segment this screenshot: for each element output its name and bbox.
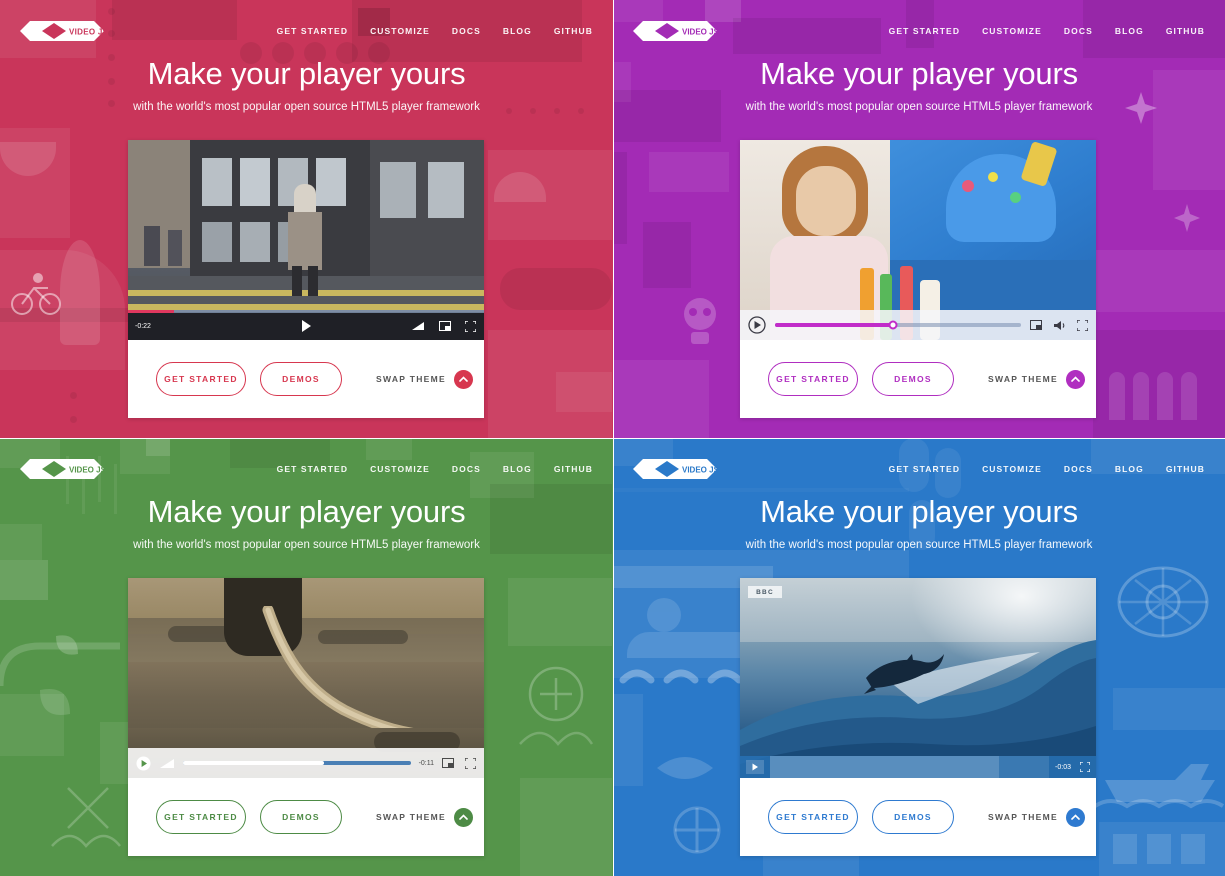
play-button-blue[interactable]: [746, 760, 764, 774]
card-actions-purple: GET STARTED DEMOS SWAP THEME: [740, 340, 1096, 418]
swap-theme-label: SWAP THEME: [988, 374, 1058, 384]
nav-links-purple: GET STARTED CUSTOMIZE DOCS BLOG GITHUB: [889, 26, 1205, 36]
nav-link-customize[interactable]: CUSTOMIZE: [982, 464, 1042, 474]
get-started-button[interactable]: GET STARTED: [768, 362, 858, 396]
time-remaining-red: -0:22: [135, 323, 151, 330]
page-subtitle: with the world's most popular open sourc…: [613, 101, 1225, 113]
demos-button[interactable]: DEMOS: [260, 800, 342, 834]
nav-link-docs[interactable]: DOCS: [452, 464, 481, 474]
nav-link-customize[interactable]: CUSTOMIZE: [370, 26, 430, 36]
video-player-red[interactable]: -0:22: [128, 140, 484, 340]
video-player-blue[interactable]: BBC -0:03: [740, 578, 1096, 778]
play-button-green[interactable]: [136, 756, 151, 771]
nav-link-docs[interactable]: DOCS: [1064, 26, 1093, 36]
picture-in-picture-button-purple[interactable]: [1030, 320, 1042, 330]
control-bar-green[interactable]: -0:11: [128, 748, 484, 778]
fullscreen-button-red[interactable]: [465, 321, 476, 332]
swap-theme-label: SWAP THEME: [376, 374, 446, 384]
player-card-red: -0:22: [128, 140, 484, 418]
nav-link-github[interactable]: GITHUB: [554, 26, 593, 36]
chevron-up-icon[interactable]: [454, 808, 473, 827]
nav-links-red: GET STARTED CUSTOMIZE DOCS BLOG GITHUB: [277, 26, 593, 36]
panel-divider-horizontal: [0, 438, 1225, 439]
theme-panel-red: VIDEO JS GET STARTED CUSTOMIZE DOCS BLOG…: [0, 0, 613, 438]
videojs-logo-green[interactable]: VIDEO JS: [20, 456, 106, 482]
theme-panel-blue: VIDEO JS GET STARTED CUSTOMIZE DOCS BLOG…: [613, 438, 1225, 876]
volume-button-red[interactable]: [411, 321, 425, 331]
picture-in-picture-button-red[interactable]: [439, 321, 451, 331]
page-subtitle: with the world's most popular open sourc…: [0, 539, 613, 551]
logo-text: VIDEO JS: [69, 466, 106, 475]
hero-blue: Make your player yours with the world's …: [613, 493, 1225, 551]
navbar-green: VIDEO JS GET STARTED CUSTOMIZE DOCS BLOG…: [0, 438, 613, 500]
theme-panel-green: VIDEO JS GET STARTED CUSTOMIZE DOCS BLOG…: [0, 438, 613, 876]
nav-link-blog[interactable]: BLOG: [1115, 464, 1144, 474]
control-bar-red[interactable]: -0:22: [128, 312, 484, 340]
card-actions-green: GET STARTED DEMOS SWAP THEME: [128, 778, 484, 856]
page-subtitle: with the world's most popular open sourc…: [0, 101, 613, 113]
video-player-purple[interactable]: [740, 140, 1096, 340]
fullscreen-button-green[interactable]: [465, 758, 476, 769]
logo-text: VIDEO JS: [69, 28, 106, 37]
demos-button[interactable]: DEMOS: [872, 800, 954, 834]
videojs-logo-red[interactable]: VIDEO JS: [20, 18, 106, 44]
fullscreen-button-purple[interactable]: [1077, 320, 1088, 331]
demos-button[interactable]: DEMOS: [260, 362, 342, 396]
video-player-green[interactable]: -0:11: [128, 578, 484, 778]
card-actions-red: GET STARTED DEMOS SWAP THEME: [128, 340, 484, 418]
nav-link-github[interactable]: GITHUB: [1166, 26, 1205, 36]
hero-red: Make your player yours with the world's …: [0, 55, 613, 113]
play-button-purple[interactable]: [748, 316, 766, 334]
chevron-up-icon[interactable]: [1066, 370, 1085, 389]
volume-button-purple[interactable]: [1053, 320, 1066, 331]
progress-bar-green[interactable]: [183, 761, 411, 765]
nav-link-get-started[interactable]: GET STARTED: [889, 464, 960, 474]
nav-link-get-started[interactable]: GET STARTED: [277, 26, 348, 36]
nav-link-github[interactable]: GITHUB: [1166, 464, 1205, 474]
hero-purple: Make your player yours with the world's …: [613, 55, 1225, 113]
progress-handle-purple[interactable]: [889, 321, 898, 330]
chevron-up-icon[interactable]: [454, 370, 473, 389]
nav-link-get-started[interactable]: GET STARTED: [277, 464, 348, 474]
videojs-logo-blue[interactable]: VIDEO JS: [633, 456, 719, 482]
swap-theme-control-purple[interactable]: SWAP THEME: [988, 370, 1085, 389]
nav-links-blue: GET STARTED CUSTOMIZE DOCS BLOG GITHUB: [889, 464, 1205, 474]
logo-text: VIDEO JS: [682, 466, 719, 475]
chevron-up-icon[interactable]: [1066, 808, 1085, 827]
swap-theme-label: SWAP THEME: [988, 812, 1058, 822]
bbc-watermark: BBC: [748, 586, 782, 598]
get-started-button[interactable]: GET STARTED: [768, 800, 858, 834]
logo-text: VIDEO JS: [682, 28, 719, 37]
nav-link-blog[interactable]: BLOG: [503, 26, 532, 36]
progress-bar-red[interactable]: [128, 310, 484, 313]
nav-links-green: GET STARTED CUSTOMIZE DOCS BLOG GITHUB: [277, 464, 593, 474]
nav-link-get-started[interactable]: GET STARTED: [889, 26, 960, 36]
nav-link-blog[interactable]: BLOG: [1115, 26, 1144, 36]
swap-theme-control-green[interactable]: SWAP THEME: [376, 808, 473, 827]
swap-theme-control-blue[interactable]: SWAP THEME: [988, 808, 1085, 827]
video-scene-ocean: BBC: [740, 578, 1096, 778]
theme-panel-purple: VIDEO JS GET STARTED CUSTOMIZE DOCS BLOG…: [613, 0, 1225, 438]
volume-button-green[interactable]: [159, 758, 175, 769]
fullscreen-button-blue[interactable]: [1080, 762, 1090, 772]
navbar-purple: VIDEO JS GET STARTED CUSTOMIZE DOCS BLOG…: [613, 0, 1225, 62]
page-subtitle: with the world's most popular open sourc…: [613, 539, 1225, 551]
videojs-logo-purple[interactable]: VIDEO JS: [633, 18, 719, 44]
navbar-red: VIDEO JS GET STARTED CUSTOMIZE DOCS BLOG…: [0, 0, 613, 62]
swap-theme-label: SWAP THEME: [376, 812, 446, 822]
progress-bar-blue[interactable]: [770, 756, 1049, 778]
get-started-button[interactable]: GET STARTED: [156, 362, 246, 396]
demos-button[interactable]: DEMOS: [872, 362, 954, 396]
nav-link-docs[interactable]: DOCS: [452, 26, 481, 36]
navbar-blue: VIDEO JS GET STARTED CUSTOMIZE DOCS BLOG…: [613, 438, 1225, 500]
nav-link-github[interactable]: GITHUB: [554, 464, 593, 474]
get-started-button[interactable]: GET STARTED: [156, 800, 246, 834]
player-card-green: -0:11 GET STARTED DEMOS SWAP THEME: [128, 578, 484, 856]
nav-link-customize[interactable]: CUSTOMIZE: [370, 464, 430, 474]
picture-in-picture-button-green[interactable]: [442, 758, 454, 768]
time-remaining-green: -0:11: [419, 760, 434, 767]
nav-link-blog[interactable]: BLOG: [503, 464, 532, 474]
hero-green: Make your player yours with the world's …: [0, 493, 613, 551]
control-bar-blue[interactable]: -0:03: [740, 756, 1096, 778]
progress-bar-purple[interactable]: [775, 323, 1021, 327]
player-card-blue: BBC -0:03 GET START: [740, 578, 1096, 856]
time-remaining-blue: -0:03: [1055, 764, 1071, 771]
player-card-purple: GET STARTED DEMOS SWAP THEME: [740, 140, 1096, 418]
card-actions-blue: GET STARTED DEMOS SWAP THEME: [740, 778, 1096, 856]
play-button-red[interactable]: [299, 319, 313, 333]
nav-link-docs[interactable]: DOCS: [1064, 464, 1093, 474]
control-bar-purple[interactable]: [740, 310, 1096, 340]
swap-theme-control-red[interactable]: SWAP THEME: [376, 370, 473, 389]
nav-link-customize[interactable]: CUSTOMIZE: [982, 26, 1042, 36]
